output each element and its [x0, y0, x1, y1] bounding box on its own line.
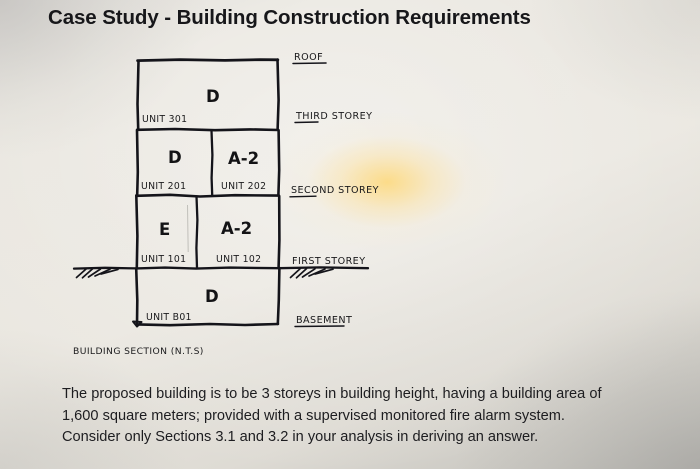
partition-second-storey [212, 131, 213, 195]
storey-label-first: FIRST STOREY [292, 256, 366, 267]
roof-label-underline [293, 63, 326, 64]
floor-line-third [137, 129, 278, 130]
unit-b01-classification: D [205, 287, 219, 306]
unit-102-name: UNIT 102 [216, 254, 261, 265]
basement-floor-line [138, 324, 278, 325]
floor-line-first [137, 268, 279, 269]
basement-label-underline [295, 326, 344, 327]
unit-b01-name: UNIT B01 [146, 312, 192, 323]
building-left-wall [136, 61, 138, 325]
partition-first-storey [196, 196, 197, 268]
whiteboard-photo: Case Study - Building Construction Requi… [0, 0, 700, 469]
page-title: Case Study - Building Construction Requi… [48, 6, 648, 30]
paragraph-line-3: Consider only Sections 3.1 and 3.2 in yo… [62, 427, 652, 449]
unit-202-name: UNIT 202 [221, 181, 266, 192]
floor-line-second [137, 195, 279, 197]
paragraph-line-2: 1,600 square meters; provided with a sup… [62, 406, 652, 428]
unit-301-classification: D [206, 87, 220, 106]
unit-101-classification: E [159, 220, 170, 239]
grade-hatch-left-icon [77, 269, 119, 278]
unit-202-classification: A-2 [228, 149, 259, 168]
basement-corner-arrow-icon [133, 322, 142, 327]
roof-line [138, 60, 278, 61]
storey-label-third: THIRD STOREY [295, 111, 373, 122]
pencil-artifact [188, 205, 189, 252]
storey-label-second: SECOND STOREY [291, 185, 379, 196]
grade-hatch-right-icon [291, 268, 334, 277]
storey-label-roof: ROOF [294, 52, 323, 63]
second-label-underline [290, 196, 316, 197]
unit-102-classification: A-2 [221, 219, 252, 238]
unit-201-name: UNIT 201 [141, 181, 186, 192]
third-label-underline [295, 122, 318, 123]
case-study-paragraph: The proposed building is to be 3 storeys… [62, 384, 652, 449]
diagram-caption: BUILDING SECTION (N.T.S) [73, 346, 204, 357]
storey-label-basement: BASEMENT [296, 315, 352, 326]
grade-line-right [279, 267, 368, 268]
unit-101-name: UNIT 101 [141, 254, 186, 265]
unit-201-classification: D [168, 148, 182, 167]
grade-line-left [74, 268, 137, 269]
unit-301-name: UNIT 301 [142, 114, 187, 125]
paragraph-line-1: The proposed building is to be 3 storeys… [62, 384, 652, 406]
building-right-wall [278, 60, 280, 325]
